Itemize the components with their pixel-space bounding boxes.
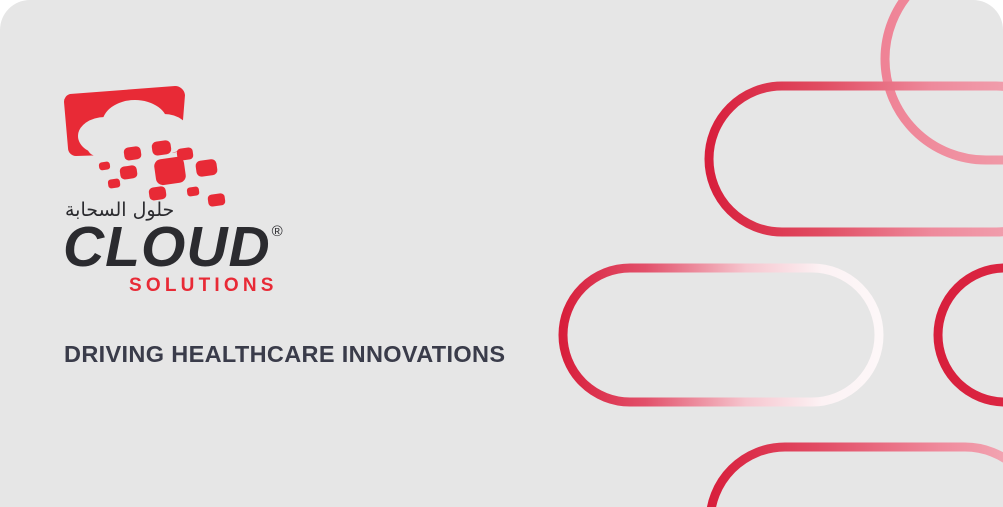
brand-logo: حلول السحابة CLOUD® SOLUTIONS <box>63 84 313 284</box>
brand-wordmark: حلول السحابة CLOUD® SOLUTIONS <box>63 201 313 297</box>
brand-primary-word: CLOUD® <box>63 221 283 273</box>
cloud-rain-pixels-logo-icon <box>63 84 233 209</box>
registered-trademark-icon: ® <box>272 223 284 240</box>
pill-top-front <box>709 86 1003 232</box>
banner-card: حلول السحابة CLOUD® SOLUTIONS DRIVING HE… <box>0 0 1003 507</box>
pill-middle-left <box>563 268 879 402</box>
tagline-heading: DRIVING HEALTHCARE INNOVATIONS <box>64 341 505 368</box>
pill-middle-right <box>938 268 1003 402</box>
pill-top-back <box>885 0 1003 160</box>
pill-bottom <box>710 447 1003 507</box>
brand-primary-word-text: CLOUD <box>63 215 271 279</box>
